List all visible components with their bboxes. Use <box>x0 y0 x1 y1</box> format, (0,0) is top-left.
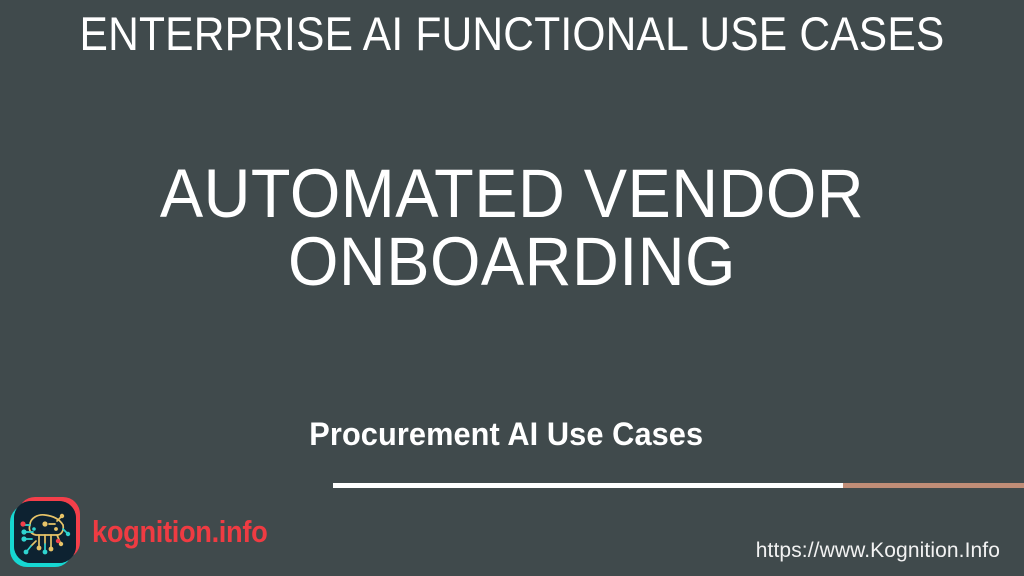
title-divider-rule <box>333 483 1024 488</box>
slide-title-line-2: ONBOARDING <box>31 228 994 296</box>
footer-website-url[interactable]: https://www.Kognition.Info <box>756 538 1000 564</box>
slide-title-line-1: AUTOMATED VENDOR <box>31 160 994 228</box>
slide-eyebrow-heading: ENTERPRISE AI FUNCTIONAL USE CASES <box>49 6 976 62</box>
divider-primary-segment <box>333 483 843 488</box>
brand-wordmark: kognition.info <box>92 515 267 549</box>
divider-accent-segment <box>843 483 1024 488</box>
logo-circuit-panel <box>14 501 76 563</box>
presentation-slide: ENTERPRISE AI FUNCTIONAL USE CASES AUTOM… <box>0 0 1024 576</box>
brand-lockup[interactable]: kognition.info <box>10 497 291 567</box>
slide-title: AUTOMATED VENDOR ONBOARDING <box>0 160 1024 296</box>
slide-subtitle: Procurement AI Use Cases <box>20 414 1003 454</box>
kognition-logo-icon <box>10 497 80 567</box>
